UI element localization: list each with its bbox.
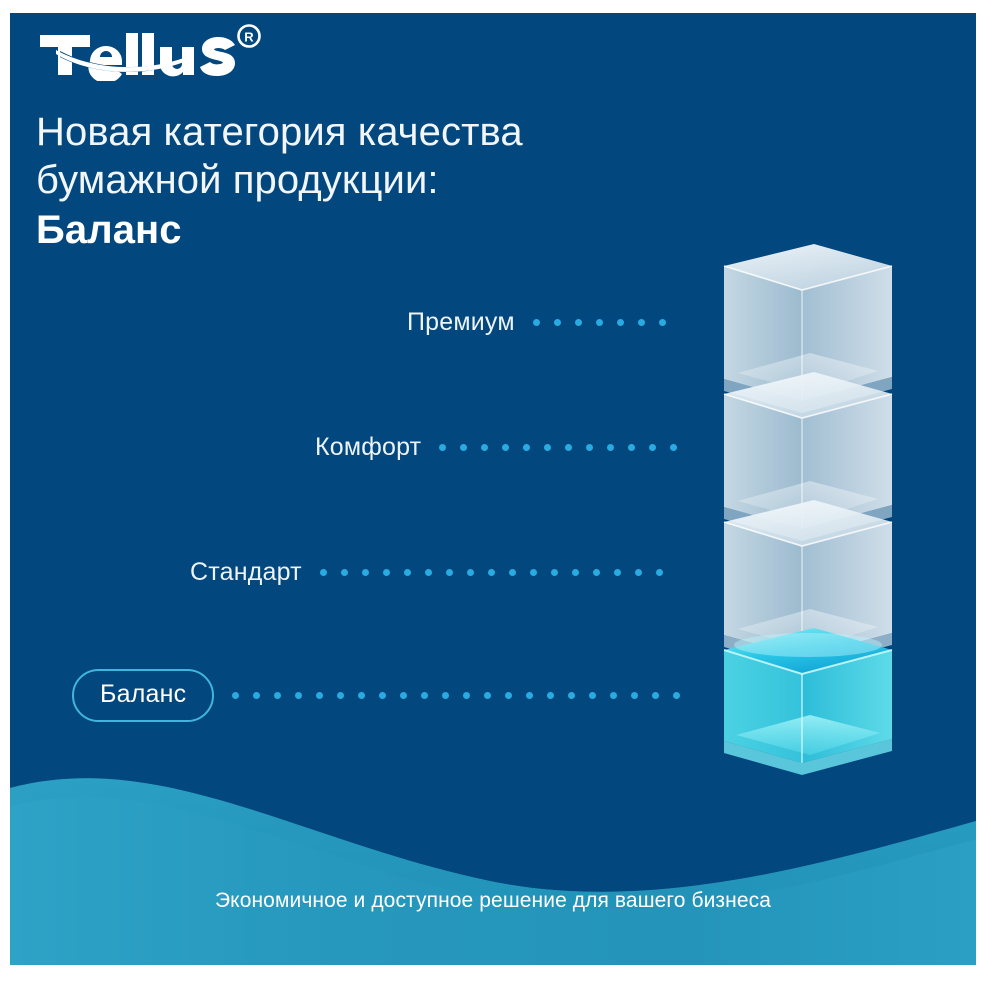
tier-label-comfort: Комфорт	[315, 433, 421, 462]
tier-row-balance[interactable]: Баланс	[72, 669, 694, 721]
leader-dot	[404, 569, 411, 576]
leader-dot	[400, 692, 407, 699]
leader-dot	[526, 692, 533, 699]
leader-dot	[463, 692, 470, 699]
leader-dot	[673, 692, 680, 699]
headline-line-1: Новая категория качества	[36, 108, 696, 156]
leader-dot	[656, 569, 663, 576]
leader-dot	[544, 444, 551, 451]
leader-dot	[638, 319, 645, 326]
leader-dot	[341, 569, 348, 576]
leader-dot	[362, 569, 369, 576]
leader-dot	[425, 569, 432, 576]
headline-line-2: бумажной продукции:	[36, 156, 696, 204]
leader-dot	[253, 692, 260, 699]
leader-dot	[649, 444, 656, 451]
leader-dot	[568, 692, 575, 699]
leader-dot	[659, 319, 666, 326]
leader-dot	[614, 569, 621, 576]
leader-dot	[320, 569, 327, 576]
tier-row-comfort[interactable]: Комфорт	[315, 421, 691, 473]
dot-leader-premium	[533, 319, 680, 326]
leader-dot	[274, 692, 281, 699]
leader-dot	[484, 692, 491, 699]
leader-dot	[551, 569, 558, 576]
tagline: Экономичное и доступное решение для ваше…	[10, 889, 976, 913]
leader-dot	[523, 444, 530, 451]
dot-leader-comfort	[439, 444, 691, 451]
dot-leader-standard	[320, 569, 677, 576]
leader-dot	[547, 692, 554, 699]
leader-dot	[421, 692, 428, 699]
leader-dot	[554, 319, 561, 326]
leader-dot	[565, 444, 572, 451]
leader-dot	[383, 569, 390, 576]
leader-dot	[442, 692, 449, 699]
leader-dot	[481, 444, 488, 451]
leader-dot	[652, 692, 659, 699]
leader-dot	[488, 569, 495, 576]
leader-dot	[670, 444, 677, 451]
tier-label-standard: Стандарт	[190, 558, 302, 587]
leader-dot	[379, 692, 386, 699]
leader-dot	[631, 692, 638, 699]
leader-dot	[617, 319, 624, 326]
dot-leader-balance	[232, 692, 694, 699]
cube-balance	[724, 628, 892, 775]
leader-dot	[572, 569, 579, 576]
tier-label-premium: Премиум	[407, 308, 515, 337]
leader-dot	[509, 569, 516, 576]
leader-dot	[316, 692, 323, 699]
leader-dot	[439, 444, 446, 451]
leader-dot	[533, 319, 540, 326]
leader-dot	[575, 319, 582, 326]
tier-row-standard[interactable]: Стандарт	[190, 546, 677, 598]
leader-dot	[593, 569, 600, 576]
leader-dot	[607, 444, 614, 451]
leader-dot	[337, 692, 344, 699]
leader-dot	[586, 444, 593, 451]
leader-dot	[628, 444, 635, 451]
leader-dot	[635, 569, 642, 576]
headline-emphasis: Баланс	[36, 206, 696, 254]
tellus-logo[interactable]: R	[38, 23, 268, 81]
leader-dot	[358, 692, 365, 699]
leader-dot	[446, 569, 453, 576]
leader-dot	[467, 569, 474, 576]
svg-text:R: R	[244, 30, 254, 45]
page-title: Новая категория качества бумажной продук…	[36, 108, 696, 254]
leader-dot	[610, 692, 617, 699]
leader-dot	[502, 444, 509, 451]
leader-dot	[505, 692, 512, 699]
leader-dot	[460, 444, 467, 451]
leader-dot	[589, 692, 596, 699]
leader-dot	[596, 319, 603, 326]
tier-row-premium[interactable]: Премиум	[407, 296, 680, 348]
leader-dot	[530, 569, 537, 576]
leader-dot	[232, 692, 239, 699]
cube-stack-illustration	[710, 241, 900, 781]
tier-label-balance[interactable]: Баланс	[72, 669, 214, 722]
leader-dot	[295, 692, 302, 699]
promo-banner: R Новая категория качества бумажной прод…	[10, 13, 976, 965]
